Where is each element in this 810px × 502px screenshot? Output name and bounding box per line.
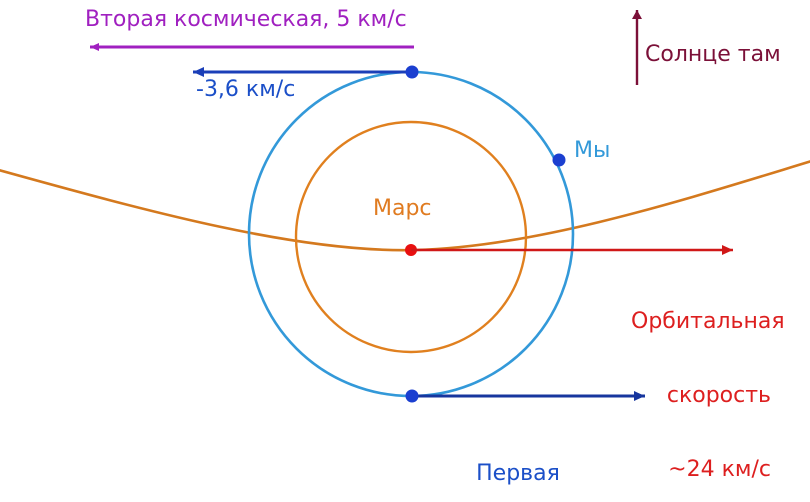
orbit-top-dot	[406, 66, 419, 79]
first-cosmic-line-1: Первая	[432, 462, 604, 487]
diagram-canvas: Вторая космическая, 5 км/с -3,6 км/с Сол…	[0, 0, 810, 502]
orbital-speed-label: Орбитальная скорость ~24 км/с	[631, 261, 771, 502]
spacecraft-label: Мы	[574, 139, 610, 164]
orbital-speed-line-2: скорость	[631, 384, 771, 409]
sun-direction-label: Солнце там	[645, 43, 781, 68]
orbital-speed-line-1: Орбитальная	[631, 310, 771, 335]
spacecraft-orbit-circle	[249, 72, 573, 396]
spacecraft-dot	[553, 154, 566, 167]
escape-velocity-label: Вторая космическая, 5 км/с	[85, 8, 407, 33]
first-cosmic-label: Первая космическая 3,6 км/с	[432, 413, 604, 502]
mars-label: Марс	[373, 197, 432, 222]
retrograde-burn-label: -3,6 км/с	[196, 78, 295, 103]
orbital-speed-line-3: ~24 км/с	[631, 458, 771, 483]
mars-body-circle	[296, 122, 526, 352]
orbit-bottom-dot	[406, 390, 419, 403]
